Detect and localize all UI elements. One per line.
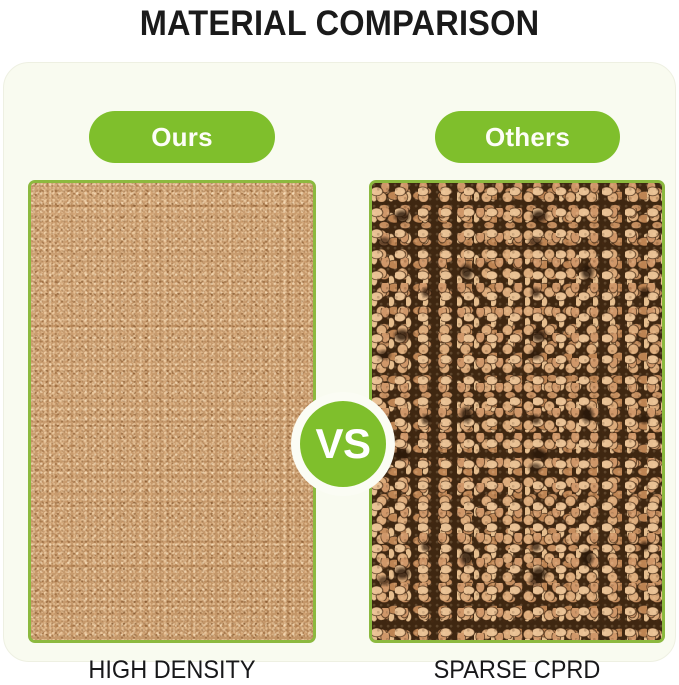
caption-others: SPARSE CPRD (378, 655, 656, 685)
sample-panel-others (369, 180, 665, 643)
coarse-sparse-cork-texture (372, 183, 662, 640)
label-pill-others: Others (435, 111, 620, 163)
vs-badge: VS (291, 392, 395, 496)
fine-dense-cork-texture (31, 183, 313, 640)
comparison-card: Ours Others VS HIGH DENSITY SPARSE CPRD (3, 62, 676, 662)
page-title: MATERIAL COMPARISON (24, 4, 655, 44)
sample-panel-ours (28, 180, 316, 643)
caption-ours: HIGH DENSITY (37, 655, 308, 685)
label-pill-ours: Ours (89, 111, 275, 163)
